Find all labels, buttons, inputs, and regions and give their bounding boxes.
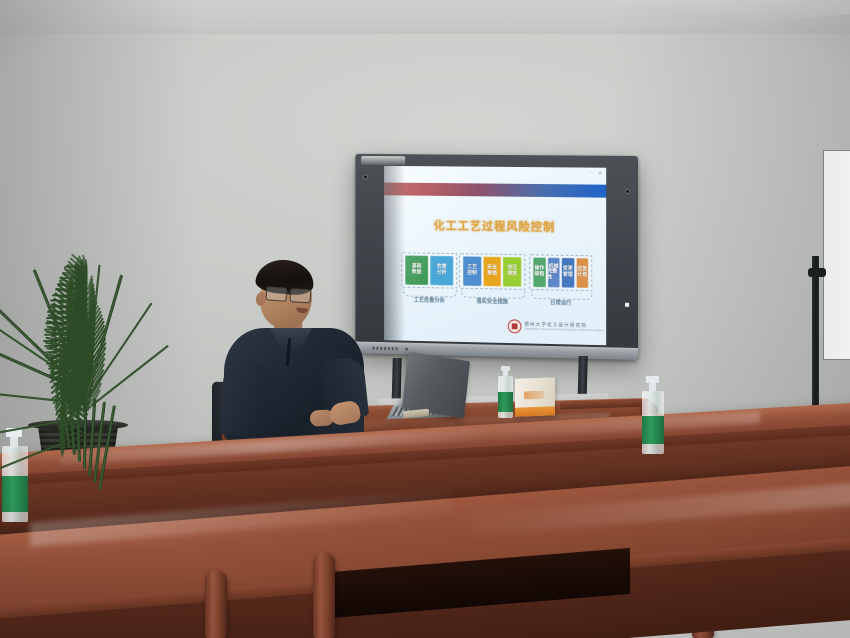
institute-name-en: Zhengzhou University Chemical Design & R… xyxy=(524,328,604,333)
cell-line2: 规程 xyxy=(534,272,544,278)
diagram-cell: 应急 计划 xyxy=(576,258,588,288)
water-bottle-front-left[interactable] xyxy=(2,428,28,522)
institute-logo-icon xyxy=(508,319,522,333)
cell-line2: 分析 xyxy=(437,271,447,277)
bottle-label xyxy=(642,416,664,444)
front-chair-post-2 xyxy=(313,552,335,638)
diagram-group-hazard-analysis: 基础 数据 危害 分析 xyxy=(401,252,457,288)
tissue-box-logo xyxy=(524,391,544,400)
diagram-cell: 泄压 排放 xyxy=(503,257,521,287)
glasses-lens-left xyxy=(266,286,288,301)
diagram-caption-daily-operation: 日常运行 xyxy=(527,298,594,307)
cell-line2: 数据 xyxy=(412,270,422,276)
glasses-icon xyxy=(266,286,315,301)
palm-leaflet xyxy=(52,294,77,296)
diagram-cell: 危害 分析 xyxy=(430,256,453,286)
diagram-group-safety-measures: 工艺 控制 安全 联锁 泄压 排放 xyxy=(459,253,525,290)
palm-leaflet xyxy=(49,305,78,308)
diagram-cell: 机械 完整性 xyxy=(547,258,559,288)
interactive-flat-panel-display[interactable]: 化工工艺过程风险控制 基础 数据 危害 分析 xyxy=(355,154,638,360)
diagram-caption-safety-measures: 落实安全措施 xyxy=(457,297,527,306)
laptop-lid[interactable] xyxy=(402,352,470,419)
cell-line2: 排放 xyxy=(507,272,517,278)
bezel-led-right xyxy=(626,190,629,193)
diagram-cell: 工艺 控制 xyxy=(463,256,481,286)
institute-logo: 郑州大学化工设计研究院 Zhengzhou University Chemica… xyxy=(508,317,602,336)
cell-line2: 完整性 xyxy=(547,270,559,281)
process-risk-diagram: 基础 数据 危害 分析 工艺 控制 xyxy=(401,252,592,317)
diagram-cell: 基础 数据 xyxy=(405,255,428,285)
bezel-indicator xyxy=(625,303,629,307)
palm-leaflet xyxy=(62,271,77,274)
cell-line2: 管理 xyxy=(563,273,573,279)
tissue-box-band xyxy=(515,406,555,416)
bezel-glare xyxy=(361,156,405,165)
slide-header-gradient-bar xyxy=(384,183,606,198)
diagram-cell: 操作 规程 xyxy=(533,257,545,287)
presenter-arm-left xyxy=(219,360,270,437)
bottle-label xyxy=(498,392,513,412)
cell-line2: 联锁 xyxy=(487,271,497,277)
front-chair-post-1 xyxy=(205,570,227,638)
tissue-box[interactable] xyxy=(515,377,555,416)
presentation-slide: 化工工艺过程风险控制 基础 数据 危害 分析 xyxy=(384,166,606,345)
screen-shadow xyxy=(384,166,405,341)
whiteboard-stand-arm xyxy=(808,268,826,277)
diagram-cell: 变更 管理 xyxy=(562,258,574,288)
osd-menu-icon[interactable]: ⋯ xyxy=(588,171,593,177)
slide-title: 化工工艺过程风险控制 xyxy=(384,217,606,236)
palm-leaflet xyxy=(57,283,77,286)
bezel-led-left xyxy=(364,175,367,178)
diagram-group-daily-operation: 操作 规程 机械 完整性 变更 管理 应急 计划 xyxy=(529,254,592,291)
diagram-caption-hazard-analysis: 工艺危害分析 xyxy=(399,295,459,304)
display-power-led xyxy=(405,348,408,351)
areca-palm-plant xyxy=(0,90,190,440)
cell-line2: 控制 xyxy=(467,271,477,277)
bottle-label xyxy=(2,476,28,512)
water-bottle-right-table[interactable] xyxy=(642,376,664,454)
bottle-cap xyxy=(646,376,659,383)
diagram-cell: 安全 联锁 xyxy=(483,257,501,287)
cell-line2: 计划 xyxy=(577,273,587,279)
glasses-lens-right xyxy=(289,288,311,303)
display-screen[interactable]: 化工工艺过程风险控制 基础 数据 危害 分析 xyxy=(384,166,606,345)
display-osd-controls[interactable]: ⋯ ✕ xyxy=(588,171,602,177)
conference-room-photo: 化工工艺过程风险控制 基础 数据 危害 分析 xyxy=(0,0,850,638)
osd-close-icon[interactable]: ✕ xyxy=(598,171,602,177)
water-bottle-desk[interactable] xyxy=(498,366,513,418)
seated-presenter xyxy=(218,258,378,438)
whiteboard xyxy=(823,150,850,360)
